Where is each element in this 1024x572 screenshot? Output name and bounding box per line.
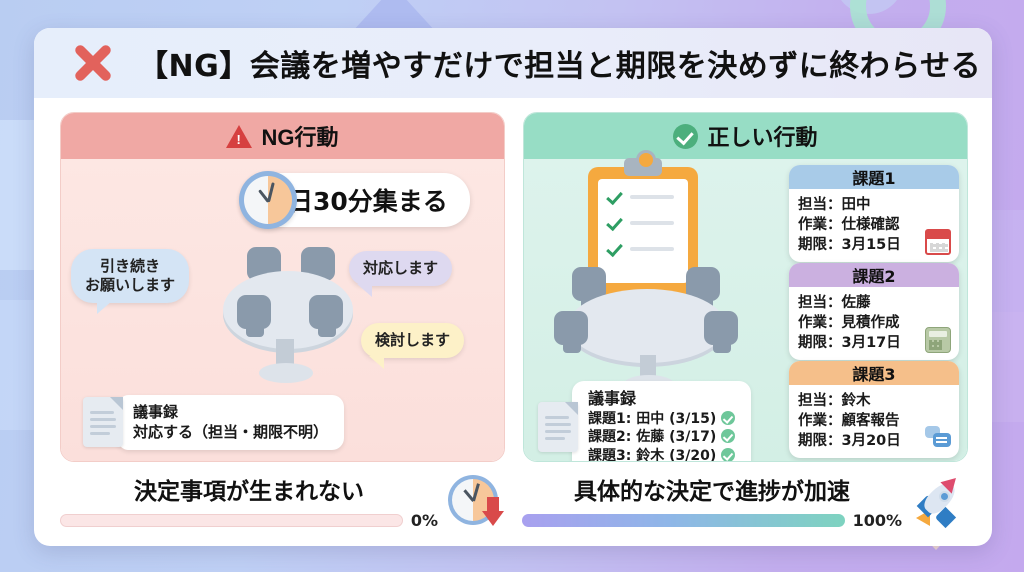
footer-right: 具体的な決定で進捗が加速 100% [522, 472, 966, 530]
ng-minutes-text: 議事録 対応する（担当・期限不明） [117, 395, 344, 450]
ok-minutes-text: 議事録 課題1: 田中 (3/15) 課題2: 佐藤 (3/17) 課題3: 鈴… [572, 381, 751, 462]
meeting-table-illustration [213, 247, 363, 377]
chair-icon [237, 295, 275, 331]
task-card-3[interactable]: 課題3 担当：鈴木 作業：顧客報告 期限：3月20日 [789, 361, 959, 458]
task-card-1-title: 課題1 [789, 165, 959, 189]
warning-triangle-icon [226, 125, 252, 148]
progress-bar-ok [522, 514, 845, 527]
x-mark-icon [70, 40, 116, 86]
check-icon [721, 411, 735, 425]
task-card-2-body: 担当：佐藤 作業：見積作成 期限：3月17日 [789, 287, 959, 360]
task-card-2-title: 課題2 [789, 263, 959, 287]
ok-panel-body: 課題1 担当：田中 作業：仕様確認 期限：3月15日 課題2 担当：佐藤 作業：… [524, 159, 967, 461]
footer-right-label: 具体的な決定で進捗が加速 [522, 472, 902, 506]
calendar-icon [925, 229, 951, 255]
background-circle-top-right [834, 0, 904, 14]
ok-meeting-table-illustration [554, 267, 740, 391]
ok-panel-header: 正しい行動 [524, 113, 967, 159]
task-card-1[interactable]: 課題1 担当：田中 作業：仕様確認 期限：3月15日 [789, 165, 959, 262]
ok-minutes-row: 議事録 課題1: 田中 (3/15) 課題2: 佐藤 (3/17) 課題3: 鈴… [538, 381, 751, 462]
page-title: 【NG】会議を増やすだけで担当と期限を決めずに終わらせる [138, 41, 981, 85]
task-card-3-body: 担当：鈴木 作業：顧客報告 期限：3月20日 [789, 385, 959, 458]
bubble-continue: 引き続き お願いします [71, 249, 189, 303]
footer-left-label: 決定事項が生まれない [60, 472, 438, 506]
ng-panel-title: NG行動 [261, 120, 338, 152]
progress-percent-ng: 0% [411, 511, 438, 530]
chat-bubbles-icon [925, 425, 951, 451]
footer-left: 決定事項が生まれない 0% [60, 472, 504, 530]
ng-minutes-line: 対応する（担当・期限不明） [133, 422, 328, 442]
document-icon [83, 397, 123, 447]
task-1-owner: 担当：田中 [798, 195, 950, 215]
panels-container: NG行動 毎日30分集まる [34, 98, 992, 462]
footer: 決定事項が生まれない 0% 具体的な決定で進捗が加速 100% [34, 462, 992, 530]
ok-minutes-row-1: 課題1: 田中 (3/15) [588, 410, 735, 429]
task-card-2[interactable]: 課題2 担当：佐藤 作業：見積作成 期限：3月17日 [789, 263, 959, 360]
ok-minutes-title: 議事録 [588, 388, 735, 410]
task-card-1-body: 担当：田中 作業：仕様確認 期限：3月15日 [789, 189, 959, 262]
progress-percent-ok: 100% [853, 511, 902, 530]
bubble-continue-line1: 引き続き [100, 257, 160, 275]
chair-icon [554, 311, 592, 347]
check-icon [721, 448, 735, 462]
clock-with-down-arrow-icon [448, 475, 504, 527]
ng-panel-header: NG行動 [61, 113, 504, 159]
task-2-owner: 担当：佐藤 [798, 293, 950, 313]
task-3-owner: 担当：鈴木 [798, 391, 950, 411]
ng-panel-body: 毎日30分集まる 引き続き お願いします [61, 159, 504, 461]
ok-minutes-row-3: 課題3: 鈴木 (3/20) [588, 447, 735, 462]
calculator-icon [925, 327, 951, 353]
chair-icon [704, 311, 742, 347]
ok-panel-title: 正しい行動 [707, 120, 817, 152]
bubble-continue-line2: お願いします [85, 276, 175, 294]
ok-panel: 正しい行動 [523, 112, 968, 462]
bubble-consider: 検討します [361, 323, 464, 358]
bubble-handle: 対応します [349, 251, 452, 286]
check-circle-icon [673, 124, 698, 149]
clock-icon [239, 171, 297, 229]
ng-minutes-title: 議事録 [133, 402, 328, 422]
ng-minutes-row: 議事録 対応する（担当・期限不明） [83, 395, 344, 450]
check-icon [721, 429, 735, 443]
slide-card: 【NG】会議を増やすだけで担当と期限を決めずに終わらせる NG行動 毎日30分集… [34, 28, 992, 546]
chair-icon [309, 295, 347, 331]
document-icon [538, 402, 578, 452]
task-card-3-title: 課題3 [789, 361, 959, 385]
ok-minutes-row-2: 課題2: 佐藤 (3/17) [588, 428, 735, 447]
progress-bar-ng [60, 514, 403, 527]
title-bar: 【NG】会議を増やすだけで担当と期限を決めずに終わらせる [34, 28, 992, 98]
rocket-icon [912, 474, 966, 528]
ng-panel: NG行動 毎日30分集まる [60, 112, 505, 462]
